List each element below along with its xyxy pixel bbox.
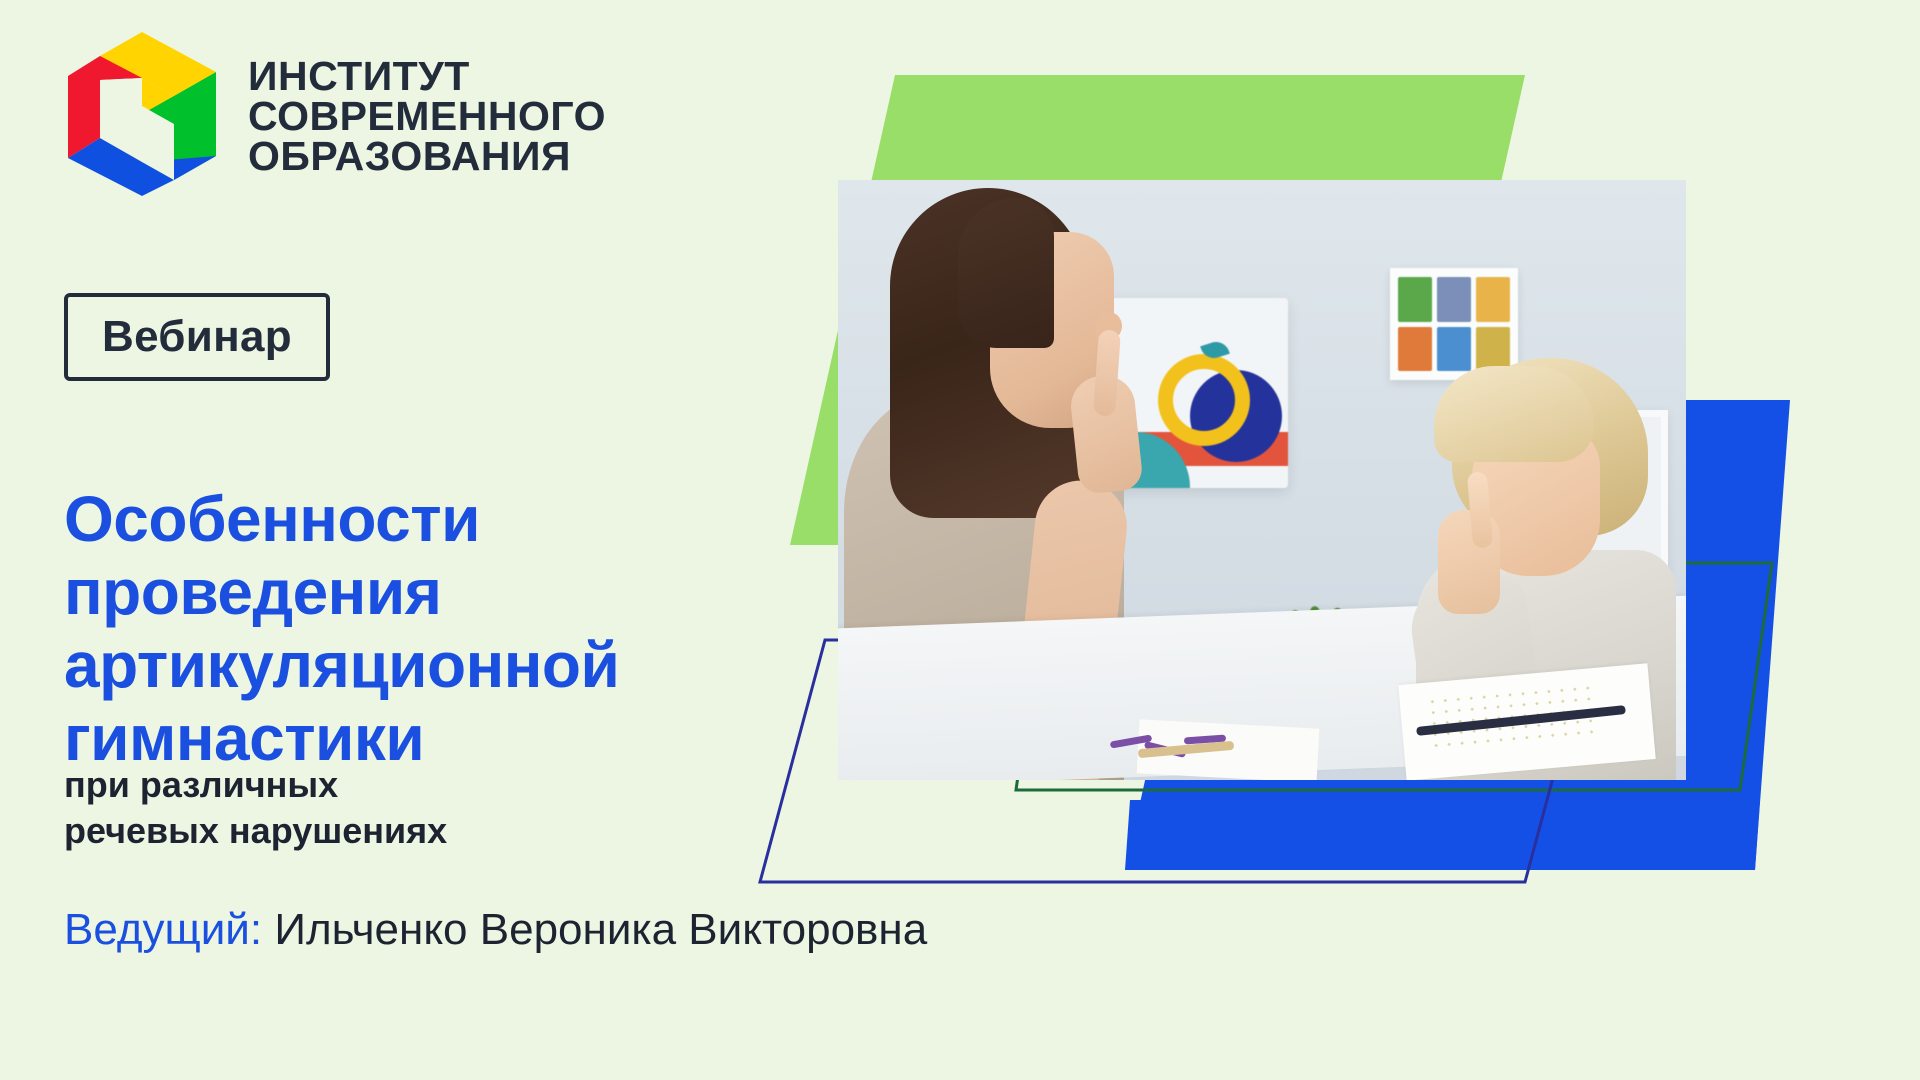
- brand-logo[interactable]: ИНСТИТУТ СОВРЕМЕННОГО ОБРАЗОВАНИЯ: [62, 28, 606, 200]
- content-column: ИНСТИТУТ СОВРЕМЕННОГО ОБРАЗОВАНИЯ Вебина…: [0, 0, 820, 1080]
- subtitle-line-1: при различных: [64, 762, 447, 808]
- title-line-2: проведения: [64, 556, 764, 629]
- title-line-1: Особенности: [64, 483, 764, 556]
- page-title: Особенности проведения артикуляционной г…: [64, 483, 764, 775]
- blue-parallelogram-tail: [1125, 800, 1760, 870]
- page-subtitle: при различных речевых нарушениях: [64, 762, 447, 854]
- presenter-name: Ильченко Вероника Викторовна: [274, 905, 927, 954]
- webinar-banner: Speech Therapy: [0, 0, 1920, 1080]
- title-line-3: артикуляционной: [64, 629, 764, 702]
- webinar-badge: Вебинар: [64, 293, 330, 381]
- webinar-photo: Speech Therapy: [838, 180, 1686, 780]
- subtitle-line-2: речевых нарушениях: [64, 808, 447, 854]
- therapist-hair-front: [958, 198, 1054, 348]
- isometric-cube-logo-icon: [62, 28, 222, 200]
- picture-cards: [1390, 268, 1518, 380]
- child-fringe: [1434, 366, 1594, 462]
- brand-name: ИНСТИТУТ СОВРЕМЕННОГО ОБРАЗОВАНИЯ: [248, 52, 606, 177]
- presenter-line: Ведущий: Ильченко Вероника Викторовна: [64, 905, 927, 955]
- presenter-label: Ведущий:: [64, 905, 262, 954]
- webinar-badge-label: Вебинар: [102, 312, 292, 362]
